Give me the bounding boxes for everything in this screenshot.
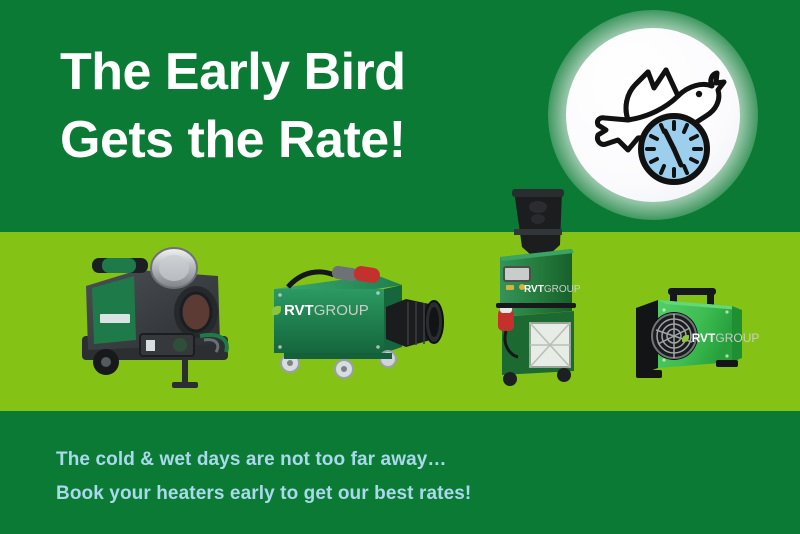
brand-name-light: GROUP [544, 284, 581, 295]
brand-name-bold: RVT [524, 284, 544, 295]
leaf-icon [272, 306, 281, 315]
early-bird-with-clock-icon [566, 28, 740, 202]
brand-name-light: GROUP [715, 331, 759, 345]
headline: The Early Bird Gets the Rate! [60, 38, 406, 174]
product-heater-4: RVTGROUP [628, 282, 763, 387]
headline-line-1: The Early Bird [60, 43, 406, 101]
product-heater-1 [68, 240, 248, 390]
early-bird-badge [566, 28, 740, 202]
subcopy-line-1: The cold & wet days are not too far away… [56, 443, 471, 477]
brand-name-bold: RVT [284, 302, 314, 319]
product-heater-2: RVTGROUP [258, 255, 458, 385]
product-heater-3: RVTGROUP [488, 185, 593, 390]
subcopy: The cold & wet days are not too far away… [56, 443, 471, 511]
brand-name-light: GROUP [314, 302, 369, 319]
leaf-icon [682, 335, 689, 342]
early-bird-promo-banner: The Early Bird Gets the Rate! [0, 0, 800, 534]
brand-logo-heater-4: RVTGROUP [682, 332, 759, 344]
subcopy-line-2: Book your heaters early to get our best … [56, 477, 471, 511]
brand-logo-heater-3: RVTGROUP [524, 285, 581, 295]
brand-logo-heater-2: RVTGROUP [272, 303, 369, 318]
brand-name-bold: RVT [692, 331, 716, 345]
headline-line-2: Gets the Rate! [60, 106, 406, 174]
